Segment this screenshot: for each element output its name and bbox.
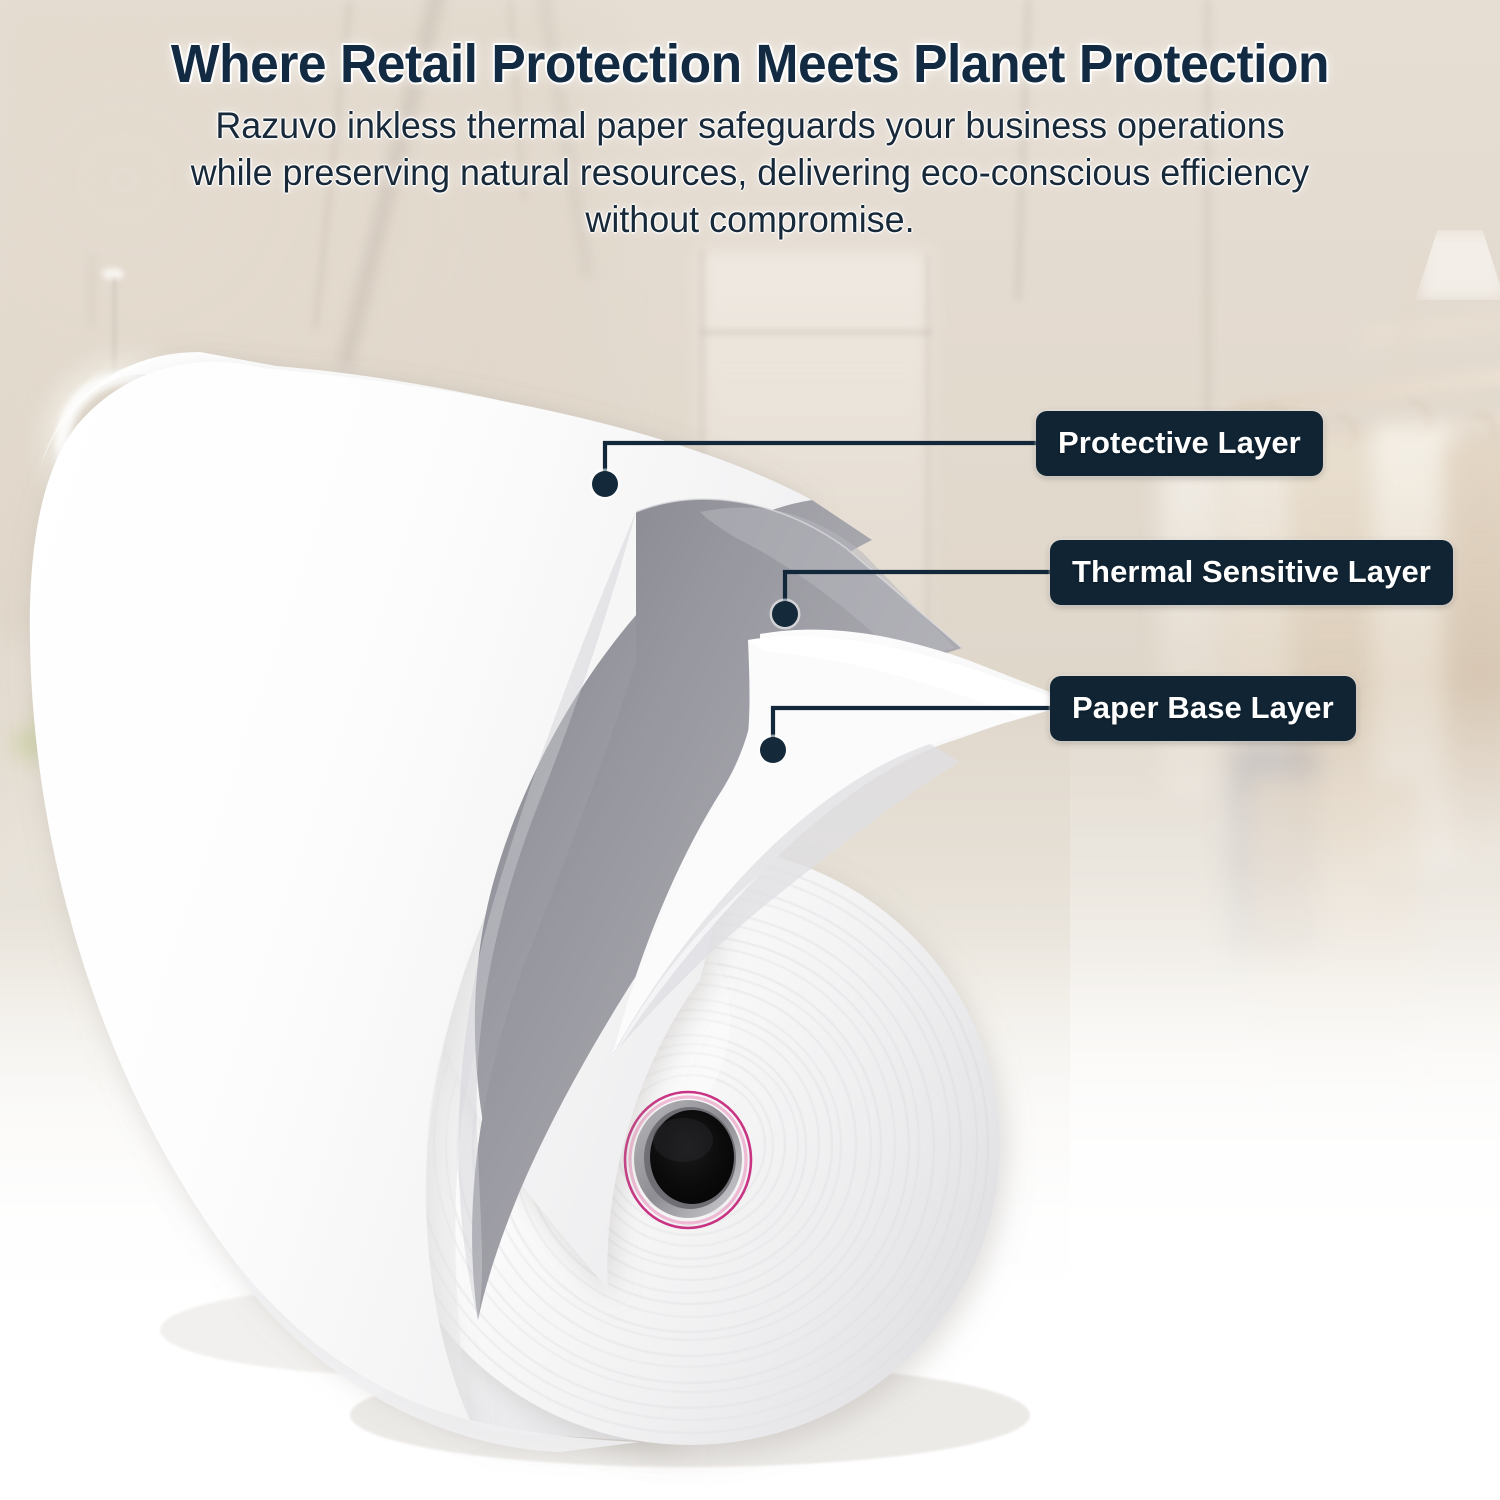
page-title: Where Retail Protection Meets Planet Pro… [34,0,1467,93]
callout-dot-thermal-sensitive-layer [772,601,798,627]
callout-dot-protective-layer [592,471,618,497]
callout-label-protective-layer: Protective Layer [1036,411,1323,476]
page-subtitle: Razuvo inkless thermal paper safeguards … [178,103,1323,244]
callout-label-paper-base-layer: Paper Base Layer [1050,676,1356,741]
callout-dot-paper-base-layer [760,737,786,763]
callout-label-thermal-sensitive-layer: Thermal Sensitive Layer [1050,540,1453,605]
product-infographic: Where Retail Protection Meets Planet Pro… [0,0,1500,1500]
header: Where Retail Protection Meets Planet Pro… [0,0,1500,244]
